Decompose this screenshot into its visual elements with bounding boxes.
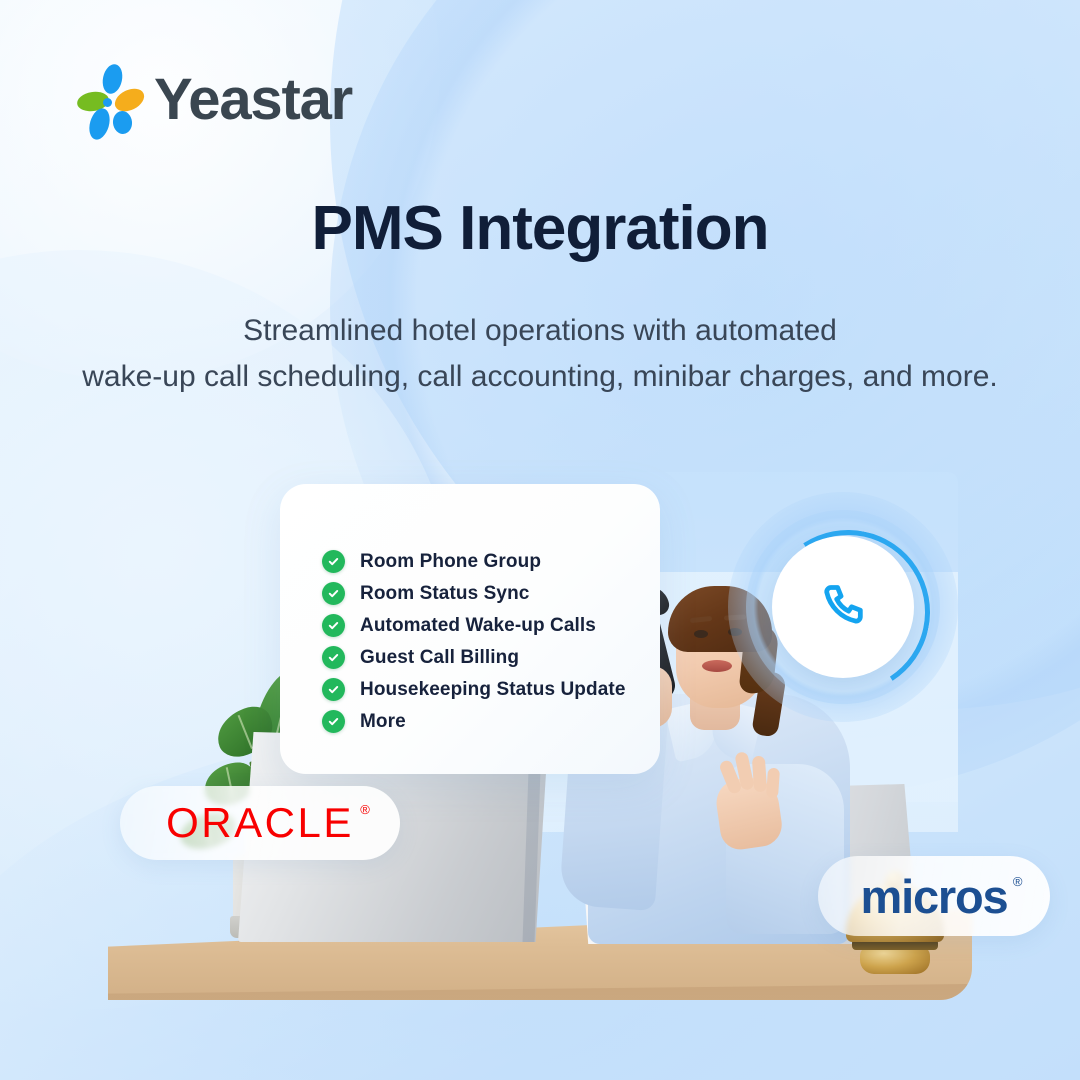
feature-label: Housekeeping Status Update [360,679,625,701]
oracle-trademark: ® [360,803,370,816]
plant-pot-base [230,916,322,938]
partner-badge-micros[interactable]: micros ® [818,856,1050,936]
list-item[interactable]: Guest Call Billing [322,646,646,669]
oracle-logo: ORACLE ® [166,802,354,844]
phone-badge-decoration [728,492,958,722]
logo-petal-bottom-left [86,106,113,142]
feature-label: Room Phone Group [360,551,541,573]
list-item[interactable]: Housekeeping Status Update [322,678,646,701]
feature-card: Room Phone Group Room Status Sync Automa… [280,484,660,774]
logo-petal-top [100,62,125,95]
feature-label: Guest Call Billing [360,647,519,669]
check-circle-icon [322,646,345,669]
service-bell-base [860,946,930,974]
service-bell-band [852,939,938,950]
logo-petal-bottom-right [112,110,133,135]
list-item[interactable]: Room Status Sync [322,582,646,605]
micros-wordmark: micros [861,870,1008,923]
phone-handset-icon [817,581,869,633]
page-title: PMS Integration [0,196,1080,263]
list-item[interactable]: More [322,710,646,733]
page-subtitle: Streamlined hotel operations with automa… [0,308,1080,399]
list-item[interactable]: Room Phone Group [322,550,646,573]
micros-logo: micros ® [861,873,1008,920]
feature-label: Room Status Sync [360,583,529,605]
check-circle-icon [322,614,345,637]
brand-wordmark: Yeastar [154,71,352,129]
plant-pot [233,856,319,938]
subtitle-line-1: Streamlined hotel operations with automa… [0,308,1080,354]
yeastar-flower-logo-icon [78,64,140,136]
subtitle-line-2: wake-up call scheduling, call accounting… [0,354,1080,400]
list-item[interactable]: Automated Wake-up Calls [322,614,646,637]
desk-edge [108,984,972,1000]
oracle-wordmark: ORACLE [166,799,354,846]
micros-trademark: ® [1013,875,1023,888]
check-circle-icon [322,550,345,573]
brand-logo[interactable]: Yeastar [78,64,352,136]
promo-banner: Yeastar PMS Integration Streamlined hote… [0,0,1080,1080]
phone-icon-badge[interactable] [772,536,914,678]
feature-label: Automated Wake-up Calls [360,615,596,637]
check-circle-icon [322,678,345,701]
feature-list: Room Phone Group Room Status Sync Automa… [322,550,646,733]
check-circle-icon [322,582,345,605]
check-circle-icon [322,710,345,733]
feature-label: More [360,711,406,733]
plant-leaf-2 [210,701,280,764]
partner-badge-oracle[interactable]: ORACLE ® [120,786,400,860]
logo-petal-core [103,98,112,107]
